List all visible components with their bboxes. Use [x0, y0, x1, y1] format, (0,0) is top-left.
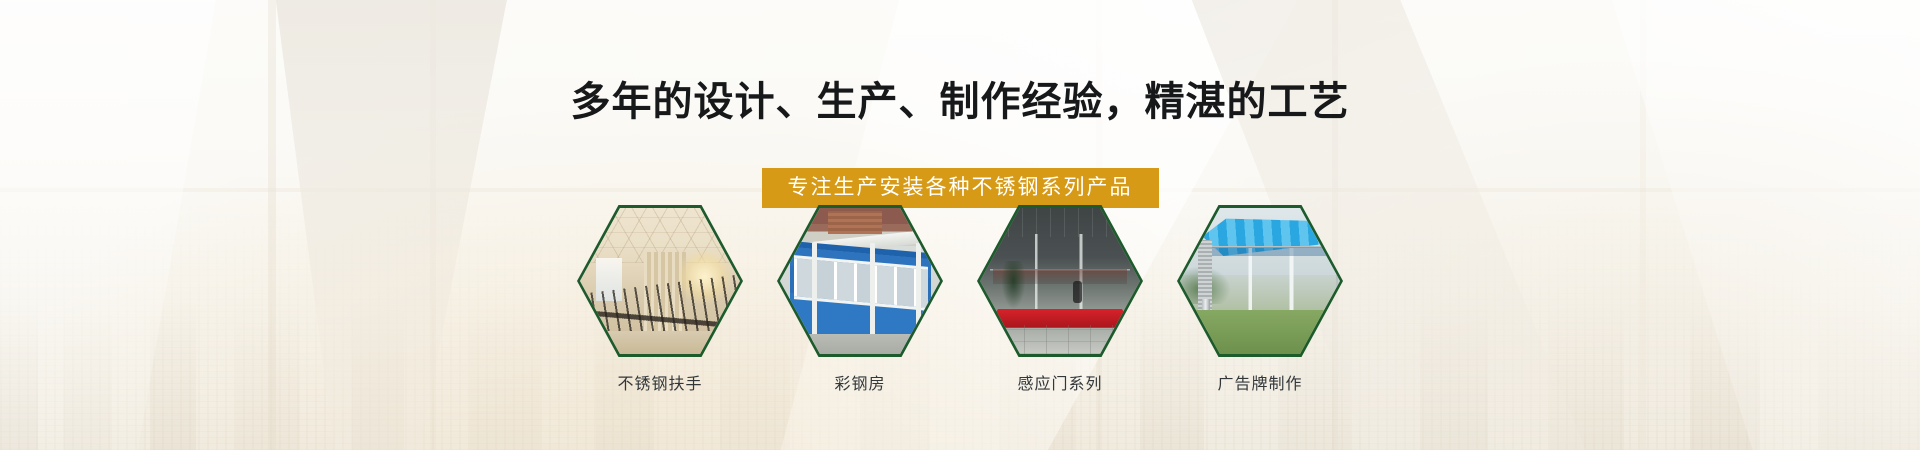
floor	[580, 331, 740, 354]
product-caption: 不锈钢扶手	[617, 370, 702, 394]
booth-post	[916, 243, 921, 345]
display-panels	[1209, 246, 1338, 314]
hexagon-frame	[1177, 205, 1343, 357]
billboard-scene	[1180, 208, 1340, 354]
product-item-billboard[interactable]: 广告牌制作	[1177, 205, 1343, 394]
banner-headline: 多年的设计、生产、制作经验，精湛的工艺	[0, 78, 1920, 126]
product-caption: 感应门系列	[1017, 370, 1102, 394]
hexagon-frame	[977, 205, 1143, 357]
tiled-floor	[980, 325, 1140, 354]
booth-post	[870, 243, 875, 345]
billboard-production-photo	[1180, 208, 1340, 354]
grass-lawn	[1180, 310, 1340, 354]
product-caption: 广告牌制作	[1217, 370, 1302, 394]
ceiling	[980, 208, 1140, 237]
handrail-scene	[580, 208, 740, 354]
product-item-sensor-door[interactable]: 感应门系列	[977, 205, 1143, 394]
potted-plant	[1001, 261, 1027, 311]
stainless-steel-handrail-photo	[580, 208, 740, 354]
booth-post	[812, 243, 817, 345]
product-caption: 彩钢房	[834, 370, 885, 394]
banner-subtitle-badge: 专注生产安装各种不锈钢系列产品	[762, 168, 1159, 208]
promo-banner: 多年的设计、生产、制作经验，精湛的工艺 专注生产安装各种不锈钢系列产品	[0, 0, 1920, 450]
sensor-door-series-photo	[980, 208, 1140, 354]
color-steel-house-photo	[780, 208, 940, 354]
product-item-steel-house[interactable]: 彩钢房	[777, 205, 943, 394]
sensor-door-scene	[980, 208, 1140, 354]
person-silhouette	[1073, 281, 1082, 303]
product-item-handrail[interactable]: 不锈钢扶手	[577, 205, 743, 394]
guard-booth-scene	[780, 208, 940, 354]
hexagon-frame	[777, 205, 943, 357]
product-hexagon-row: 不锈钢扶手	[0, 205, 1920, 394]
badge-container: 专注生产安装各种不锈钢系列产品	[0, 168, 1920, 208]
panel-header-strip	[1212, 247, 1330, 256]
brick-wall	[828, 211, 882, 234]
hexagon-frame	[577, 205, 743, 357]
ground	[780, 334, 940, 354]
banner-content: 多年的设计、生产、制作经验，精湛的工艺 专注生产安装各种不锈钢系列产品	[0, 0, 1920, 450]
